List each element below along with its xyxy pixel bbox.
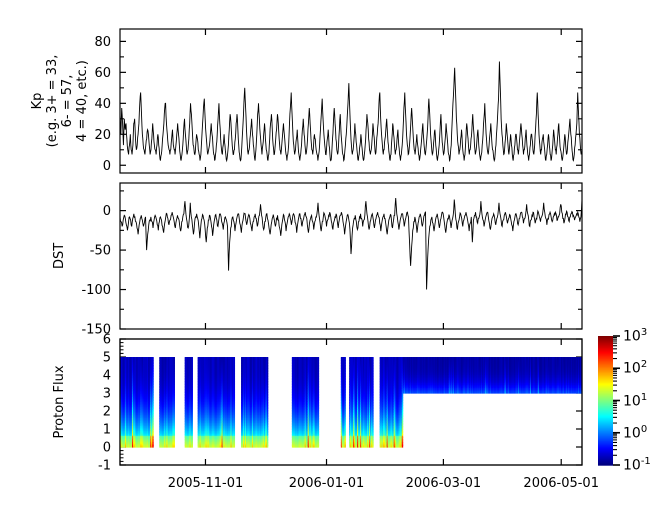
- axis-title-line: DST: [52, 243, 67, 269]
- axis-title-line: Proton Flux: [52, 366, 67, 439]
- ytick-label: -100: [81, 283, 111, 298]
- proton-flux-axis-title: Proton Flux: [52, 366, 67, 439]
- ytick-label: 0: [103, 441, 111, 456]
- colorbar-tick-label: 101: [623, 392, 647, 409]
- axis-title-line: (e.g. 3+ = 33,: [45, 55, 60, 148]
- dst-axis-title: DST: [52, 243, 67, 269]
- data-trace: [120, 198, 582, 290]
- colorbar-tick-label: 10-1: [623, 456, 651, 473]
- data-trace: [120, 62, 582, 161]
- colorbar: [598, 336, 620, 466]
- ytick-label: 2: [103, 405, 111, 420]
- panel-dst: 0-50-100-150: [81, 183, 582, 338]
- ytick-label: 60: [94, 66, 111, 81]
- axis-title-line: 6- = 57,: [60, 55, 75, 148]
- xtick-label: 2006-05-01: [523, 476, 599, 491]
- ytick-label: 40: [94, 97, 111, 112]
- kp-axis-title: Kp(e.g. 3+ = 33,6- = 57,4 = 40, etc.): [30, 55, 90, 148]
- ytick-label: 1: [103, 423, 111, 438]
- ytick-label: 0: [103, 159, 111, 174]
- ytick-label: 80: [94, 35, 111, 50]
- colorbar-tick-label: 102: [623, 359, 647, 376]
- colorbar-tick-label: 103: [623, 327, 647, 344]
- ytick-label: -1: [98, 459, 111, 474]
- ytick-label: 5: [103, 351, 111, 366]
- xtick-label: 2005-11-01: [168, 476, 244, 491]
- proton-flux-heatmap: [120, 357, 582, 448]
- ytick-label: 4: [103, 369, 111, 384]
- figure-canvas: 0204060800-50-100-150-101234562005-11-01…: [0, 0, 665, 523]
- colorbar-tick-label: 100: [623, 424, 647, 441]
- ytick-label: 20: [94, 128, 111, 143]
- ytick-label: 3: [103, 387, 111, 402]
- ytick-label: 6: [103, 333, 111, 348]
- ytick-label: 0: [103, 204, 111, 219]
- axis-title-line: Kp: [30, 55, 45, 148]
- xtick-label: 2006-01-01: [289, 476, 365, 491]
- ytick-label: -50: [90, 244, 111, 259]
- axis-title-line: 4 = 40, etc.): [75, 55, 90, 148]
- xtick-label: 2006-03-01: [406, 476, 482, 491]
- plot-svg: 0204060800-50-100-150-101234562005-11-01…: [0, 0, 665, 523]
